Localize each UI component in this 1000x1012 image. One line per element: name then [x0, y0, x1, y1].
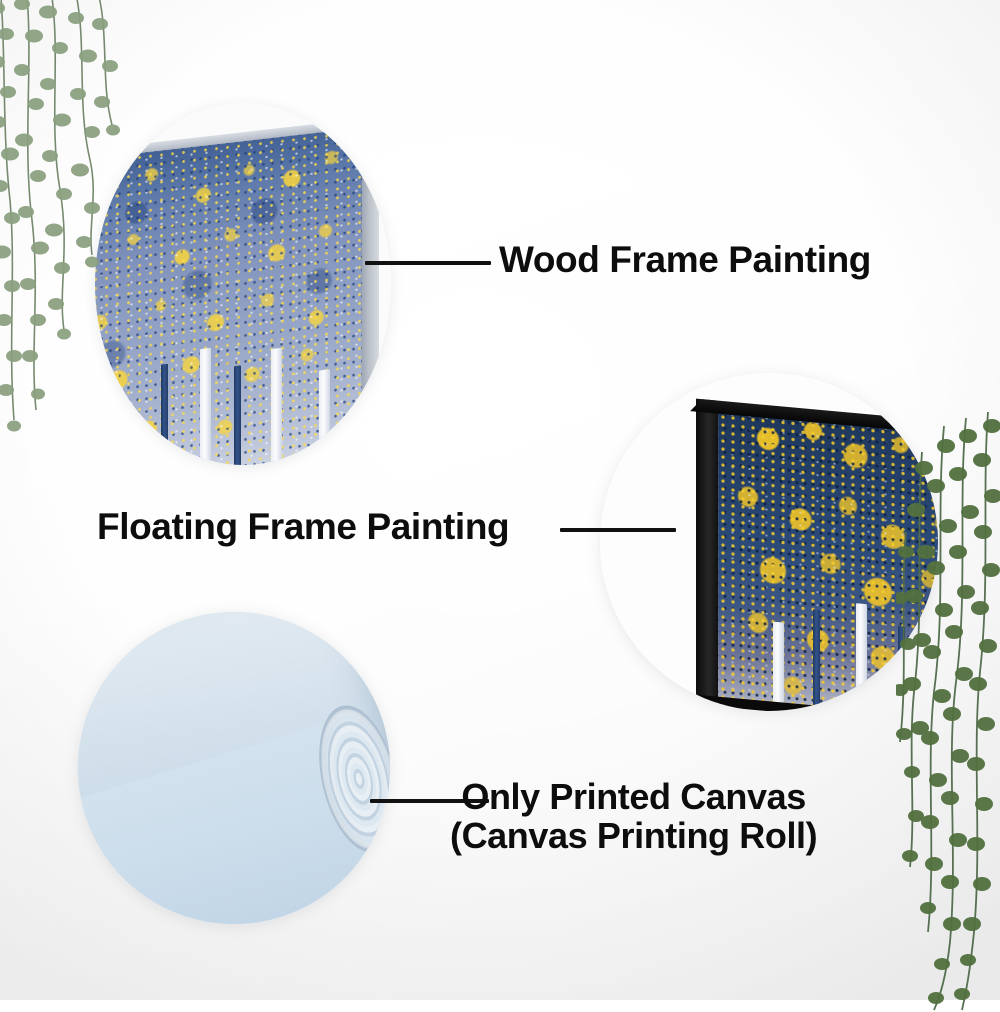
- infographic-canvas: Wood Frame Painting Floating Frame Paint…: [0, 0, 1000, 1000]
- birch-trunk: [271, 348, 282, 465]
- wood-frame-photo: [95, 103, 391, 465]
- canvas-art-face: [95, 128, 362, 465]
- floating-framed-artwork: [696, 399, 938, 711]
- birch-trunk: [856, 603, 867, 711]
- birch-trunk: [813, 609, 820, 711]
- framed-art-face: [718, 405, 938, 711]
- wood-frame-canvas-slab: [95, 128, 362, 465]
- birch-trunk: [773, 622, 784, 709]
- birch-trunks-group: [718, 583, 938, 711]
- label-wood-frame-painting: Wood Frame Painting: [499, 240, 871, 280]
- floating-frame-photo-inner: [600, 373, 938, 711]
- leader-line-floating-frame: [560, 528, 676, 532]
- printed-canvas-photo-inner: [78, 612, 390, 924]
- label-floating-frame-painting: Floating Frame Painting: [97, 507, 509, 547]
- canvas-side-edge: [361, 128, 379, 460]
- printed-canvas-photo: [78, 612, 390, 924]
- birch-trunk: [112, 387, 123, 465]
- birch-trunk: [234, 366, 241, 465]
- leader-line-wood-frame: [365, 261, 491, 265]
- birch-trunk: [319, 369, 330, 463]
- label-printed-canvas: Only Printed Canvas (Canvas Printing Rol…: [450, 778, 817, 856]
- birch-trunk: [161, 364, 168, 465]
- birch-trunk: [200, 348, 211, 465]
- wood-frame-photo-inner: [95, 103, 391, 465]
- label-printed-canvas-line2: (Canvas Printing Roll): [450, 817, 817, 856]
- birch-trunk: [898, 626, 905, 711]
- floating-frame-photo: [600, 373, 938, 711]
- frame-left-rail: [696, 399, 718, 703]
- label-printed-canvas-line1: Only Printed Canvas: [461, 776, 806, 817]
